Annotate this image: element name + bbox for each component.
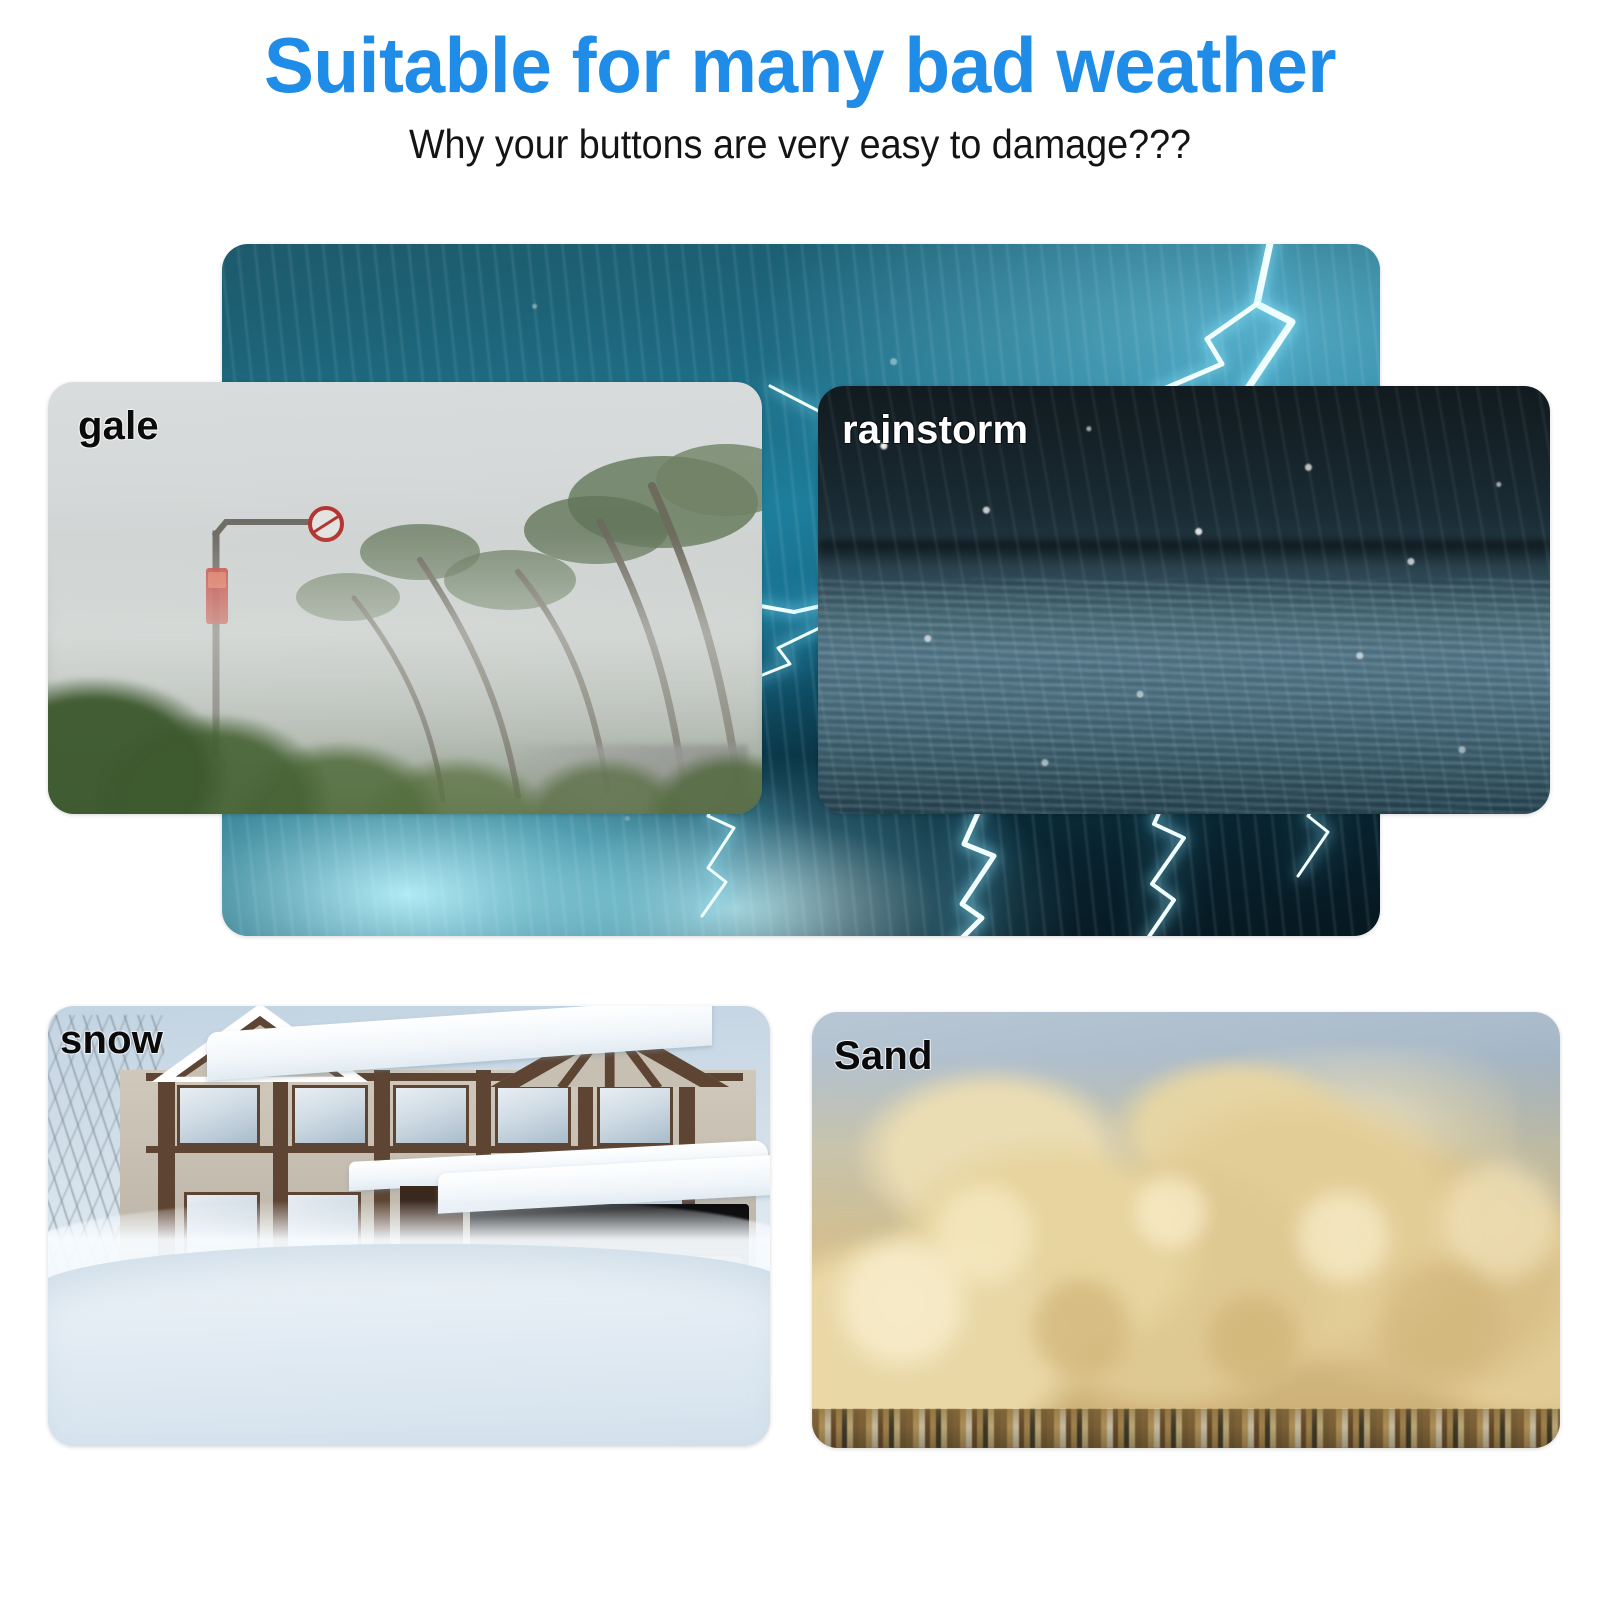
snow-scene <box>48 1006 770 1446</box>
dust-cloud-billows <box>812 1108 1560 1422</box>
weather-poster: Suitable for many bad weather Why your b… <box>0 0 1600 1600</box>
page-title: Suitable for many bad weather <box>32 26 1568 104</box>
sand-photo-card: Sand <box>812 1012 1560 1448</box>
rainstorm-label: rainstorm <box>842 408 1028 453</box>
snow-ground <box>48 1244 770 1446</box>
house-window <box>597 1085 673 1146</box>
house-window <box>393 1085 469 1146</box>
distant-town-shading <box>812 1409 1560 1448</box>
rainstorm-photo-card: rainstorm <box>818 386 1550 814</box>
house-window <box>292 1085 368 1146</box>
house-window <box>177 1085 259 1146</box>
snow-photo-card: snow <box>48 1006 770 1446</box>
house-window <box>495 1085 571 1146</box>
gale-foreground-foliage <box>48 633 762 814</box>
snow-label: snow <box>60 1018 163 1063</box>
page-subtitle: Why your buttons are very easy to damage… <box>64 124 1536 165</box>
gale-photo-card: gale <box>48 382 762 814</box>
sand-label: Sand <box>834 1034 933 1079</box>
gale-label: gale <box>78 404 159 449</box>
